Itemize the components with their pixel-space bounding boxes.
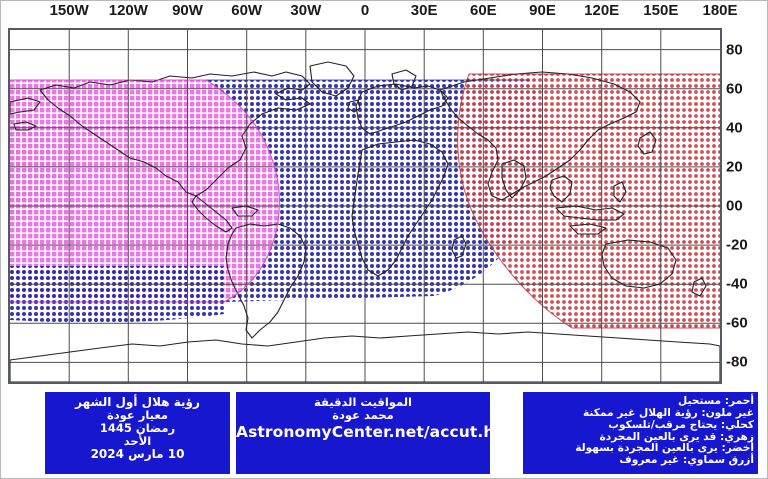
- longitude-tick-60W: 60W: [231, 2, 262, 19]
- latitude-tick--80: -80: [726, 354, 748, 371]
- longitude-tick-120E: 120E: [584, 2, 619, 19]
- longitude-tick-120W: 120W: [109, 2, 148, 19]
- longitude-axis: 150W120W90W60W30W030E60E90E120E150E180E: [0, 2, 768, 26]
- latitude-tick-40: 40: [726, 119, 743, 136]
- longitude-tick-150E: 150E: [643, 2, 678, 19]
- longitude-tick-90W: 90W: [172, 2, 203, 19]
- legend-item-cyan: أزرق سماوي: غير معروف: [523, 455, 758, 467]
- latitude-tick-00: 00: [726, 198, 743, 215]
- map-svg: [10, 30, 720, 382]
- info-box-left: رؤية هلال أول الشهر معيار عودة رمضان 144…: [45, 392, 230, 474]
- zone-red: [455, 74, 720, 328]
- legend-item-uncolored: غير ملون: رؤية الهلال غير ممكنة: [523, 408, 758, 420]
- longitude-tick-30W: 30W: [290, 2, 321, 19]
- website-url[interactable]: AstronomyCenter.net/accut.html: [236, 424, 490, 441]
- info-left-line-1: رؤية هلال أول الشهر: [45, 392, 230, 409]
- info-left-line-5: 10 مارس 2024: [45, 448, 230, 461]
- legend-item-red: أحمر: مستحيل: [523, 392, 758, 408]
- longitude-tick-150W: 150W: [50, 2, 89, 19]
- legend-item-navy: كحلي: يحتاج مرقب/تلسكوب: [523, 420, 758, 432]
- latitude-tick--20: -20: [726, 237, 748, 254]
- latitude-tick--40: -40: [726, 276, 748, 293]
- latitude-tick-80: 80: [726, 41, 743, 58]
- longitude-tick-90E: 90E: [529, 2, 556, 19]
- visibility-map-page: 150W120W90W60W30W030E60E90E120E150E180E …: [0, 0, 768, 479]
- latitude-tick-20: 20: [726, 158, 743, 175]
- info-box-center: المواقيت الدقيقة محمد عودة AstronomyCent…: [236, 392, 490, 474]
- world-map[interactable]: [8, 28, 722, 384]
- latitude-tick-60: 60: [726, 80, 743, 97]
- longitude-tick-0: 0: [361, 2, 369, 19]
- info-center-line-2: محمد عودة: [236, 409, 490, 422]
- longitude-tick-60E: 60E: [470, 2, 497, 19]
- info-center-line-1: المواقيت الدقيقة: [236, 392, 490, 409]
- longitude-tick-30E: 30E: [411, 2, 438, 19]
- info-box-legend: أحمر: مستحيل غير ملون: رؤية الهلال غير م…: [523, 392, 758, 474]
- latitude-tick--60: -60: [726, 315, 748, 332]
